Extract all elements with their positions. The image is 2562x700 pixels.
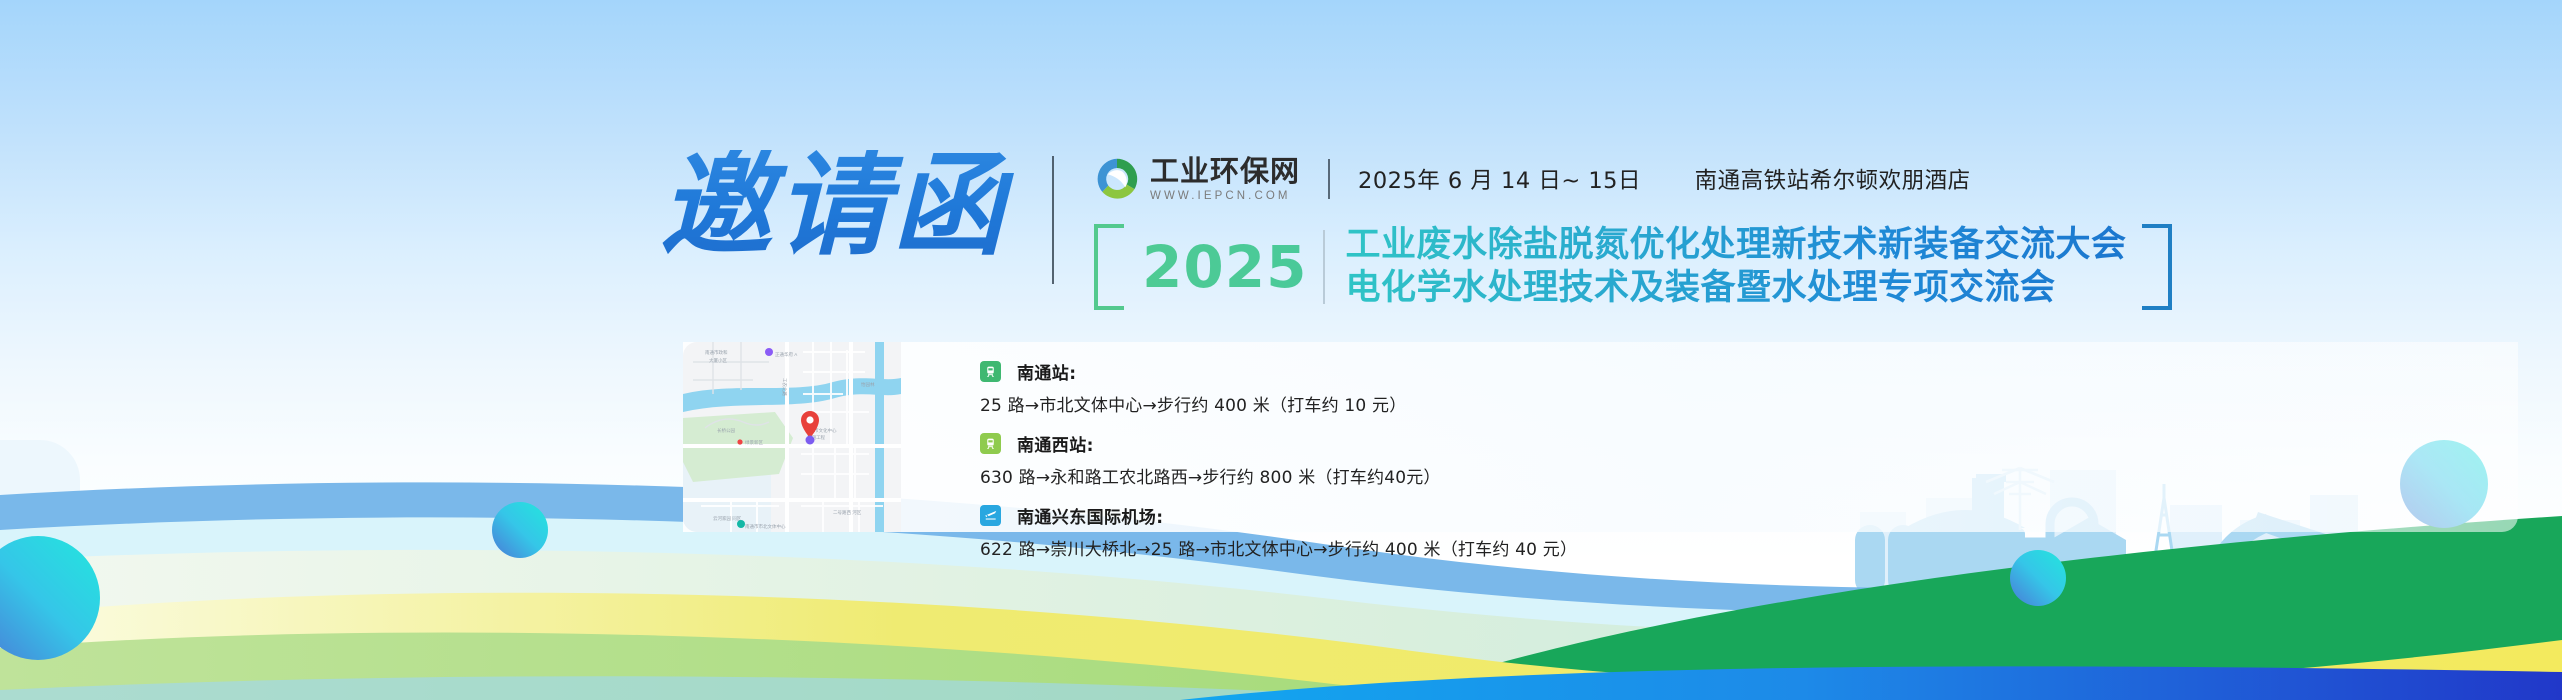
headline-row: 邀请函 工业环保网 WWW.IEP: [660, 150, 2172, 310]
svg-text:大厦小区: 大厦小区: [709, 357, 727, 364]
airplane-icon: [980, 505, 1001, 526]
map-image: 南通市政和大厦小区 长桥公园 绿景新区 南通市文化中心二期工程 怡园林 工农北路…: [683, 342, 901, 532]
poster-canvas: 邀请函 工业环保网 WWW.IEP: [0, 0, 2562, 700]
transport-route: 622 路→崇川大桥北→25 路→市北文体中心→步行约 400 米（打车约 40…: [980, 535, 1577, 560]
transport-entry: 南通西站: 630 路→永和路工农北路西→步行约 800 米（打车约40元）: [980, 430, 1577, 488]
svg-text:绿景新区: 绿景新区: [745, 439, 763, 446]
transport-entry: 南通兴东国际机场: 622 路→崇川大桥北→25 路→市北文体中心→步行约 40…: [980, 502, 1577, 560]
svg-text:长桥公园: 长桥公园: [717, 427, 735, 434]
transport-entry: 南通站: 25 路→市北文体中心→步行约 400 米（打车约 10 元）: [980, 358, 1577, 416]
conference-title-block: 2025 工业废水除盐脱氮优化处理新技术新装备交流大会 电化学水处理技术及装备暨…: [1094, 224, 2172, 310]
bracket-left-icon: [1094, 224, 1124, 310]
svg-text:怡园林: 怡园林: [861, 381, 875, 388]
svg-text:云河家园 同区: 云河家园 同区: [713, 515, 742, 522]
event-year: 2025: [1138, 224, 1323, 310]
headline-divider: [1052, 156, 1054, 284]
map-thumbnail[interactable]: 南通市政和大厦小区 长桥公园 绿景新区 南通市文化中心二期工程 怡园林 工农北路…: [683, 342, 901, 532]
brand-divider: [1328, 159, 1330, 199]
leaf-circle-logo-icon: [1094, 156, 1140, 202]
svg-text:二号路西 河区: 二号路西 河区: [833, 509, 862, 516]
svg-text:工农北路: 工农北路: [781, 378, 788, 396]
event-date: 2025年 6 月 14 日~ 15日: [1358, 168, 1641, 194]
event-meta: 2025年 6 月 14 日~ 15日 南通高铁站希尔顿欢朋酒店: [1358, 163, 1971, 195]
svg-text:正通华府 A: 正通华府 A: [775, 351, 797, 358]
brand-url: WWW.IEPCN.COM: [1150, 190, 1300, 202]
svg-text:南通市市北文体中心: 南通市市北文体中心: [745, 523, 786, 530]
transport-route: 630 路→永和路工农北路西→步行约 800 米（打车约40元）: [980, 463, 1577, 488]
transport-title: 南通兴东国际机场:: [1017, 503, 1163, 528]
brand-name: 工业环保网: [1150, 156, 1300, 186]
transport-route: 25 路→市北文体中心→步行约 400 米（打车约 10 元）: [980, 391, 1577, 416]
svg-text:南通市政和: 南通市政和: [705, 349, 728, 356]
train-station-icon: [980, 361, 1001, 382]
transport-card: 南通市政和大厦小区 长桥公园 绿景新区 南通市文化中心二期工程 怡园林 工农北路…: [683, 342, 2518, 532]
conference-title-line-1: 工业废水除盐脱氮优化处理新技术新装备交流大会: [1345, 224, 2126, 267]
bracket-right-icon: [2142, 224, 2172, 310]
conference-title-line-2: 电化学水处理技术及装备暨水处理专项交流会: [1345, 267, 2126, 310]
transport-title: 南通西站:: [1017, 431, 1094, 456]
brand-row: 工业环保网 WWW.IEPCN.COM 2025年 6 月 14 日~ 15日 …: [1094, 152, 2172, 206]
event-venue: 南通高铁站希尔顿欢朋酒店: [1695, 168, 1971, 194]
transport-title: 南通站:: [1017, 359, 1076, 384]
transport-list: 南通站: 25 路→市北文体中心→步行约 400 米（打车约 10 元）: [980, 354, 1577, 560]
page-title: 邀请函: [660, 150, 1016, 262]
train-station-icon: [980, 433, 1001, 454]
title-divider: [1323, 230, 1325, 304]
